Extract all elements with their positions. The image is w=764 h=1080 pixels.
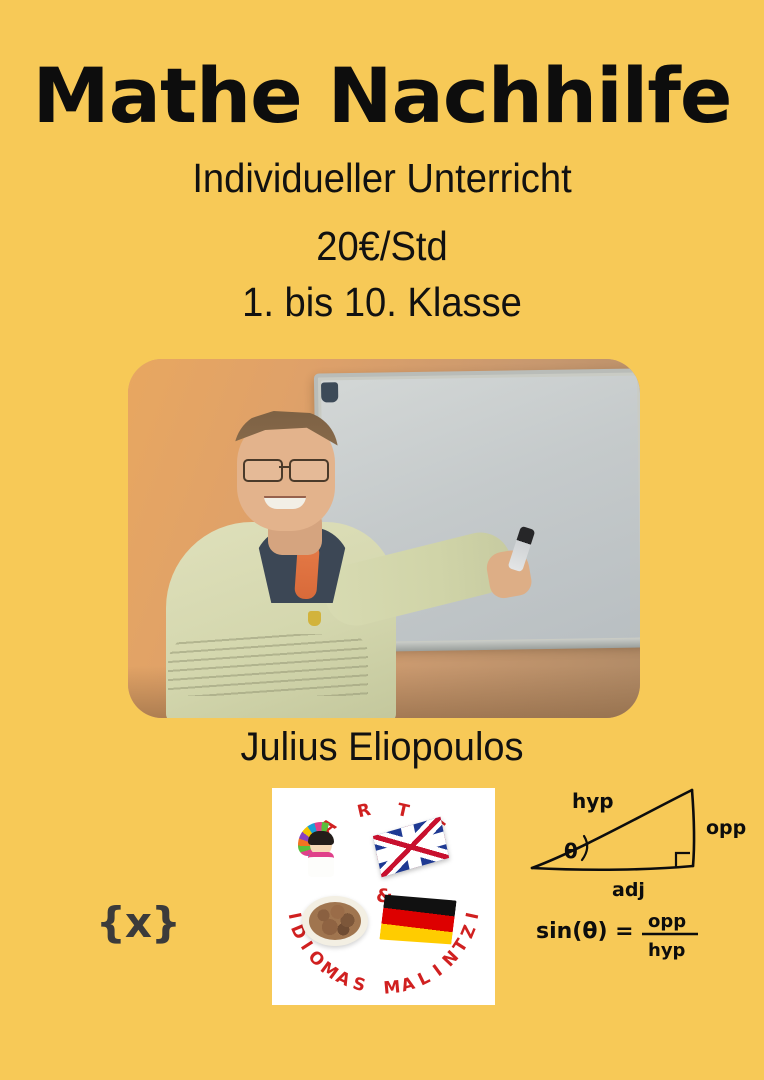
grade-range-text: 1. bis 10. Klasse	[27, 282, 738, 323]
label-hyp: hyp	[572, 789, 614, 813]
trig-diagram: hyp opp adj θ sin(θ) = opp hyp	[520, 778, 755, 968]
logo-arc-letter: A	[399, 974, 417, 997]
page-title: Mathe Nachhilfe	[0, 58, 764, 134]
logo-arc-letter: I	[283, 910, 304, 920]
math-brace-x-icon: {x}	[96, 898, 180, 947]
doll-dress	[308, 852, 334, 877]
label-opp: opp	[706, 817, 746, 839]
food-plate-icon	[302, 896, 368, 946]
logo-arc-letter: L	[415, 968, 434, 991]
angle-arc	[582, 836, 587, 860]
teacher-figure	[128, 359, 640, 718]
logo-stage: ARTE IDIOMAS MALINTZI &	[272, 788, 495, 1005]
teacher-name: Julius Eliopoulos	[19, 727, 745, 767]
glasses-lens-right	[289, 459, 329, 482]
food-contents	[309, 902, 361, 940]
smile	[264, 496, 306, 509]
school-logo: ARTE IDIOMAS MALINTZI &	[272, 788, 495, 1005]
trig-svg: hyp opp adj θ sin(θ) = opp hyp	[520, 778, 755, 968]
glasses-lens-left	[243, 459, 283, 482]
doll-hair	[308, 831, 334, 845]
sweater-stripes	[168, 634, 368, 696]
logo-arc-letter: S	[350, 974, 367, 997]
subtitle: Individueller Unterricht	[27, 158, 738, 199]
glasses-bridge	[279, 466, 289, 468]
sweater-badge	[308, 611, 321, 626]
label-adj: adj	[612, 879, 645, 901]
logo-arc-letter: R	[356, 799, 373, 821]
mexican-doll-icon	[298, 822, 344, 872]
poster-root: Mathe Nachhilfe Individueller Unterricht…	[0, 0, 764, 1080]
right-angle-marker	[676, 853, 690, 867]
label-theta: θ	[564, 839, 578, 863]
triangle-adjacent	[532, 866, 693, 870]
marker-pen-icon	[508, 526, 536, 572]
glasses-icon	[242, 459, 330, 479]
german-flag-icon	[379, 892, 456, 948]
uk-flag-icon	[373, 817, 449, 877]
logo-arc-letter: I	[430, 961, 447, 981]
triangle-opposite	[692, 790, 694, 866]
teacher-photo	[128, 359, 640, 718]
formula-left: sin(θ) =	[536, 919, 634, 944]
teacher-photo-inner	[128, 359, 640, 718]
price-text: 20€/Std	[27, 226, 738, 267]
formula-numerator: opp	[648, 911, 686, 932]
logo-arc-letter: T	[395, 800, 411, 822]
logo-arc-letter: I	[463, 910, 484, 920]
logo-arc-letter: M	[382, 977, 401, 998]
formula-denominator: hyp	[648, 940, 686, 961]
